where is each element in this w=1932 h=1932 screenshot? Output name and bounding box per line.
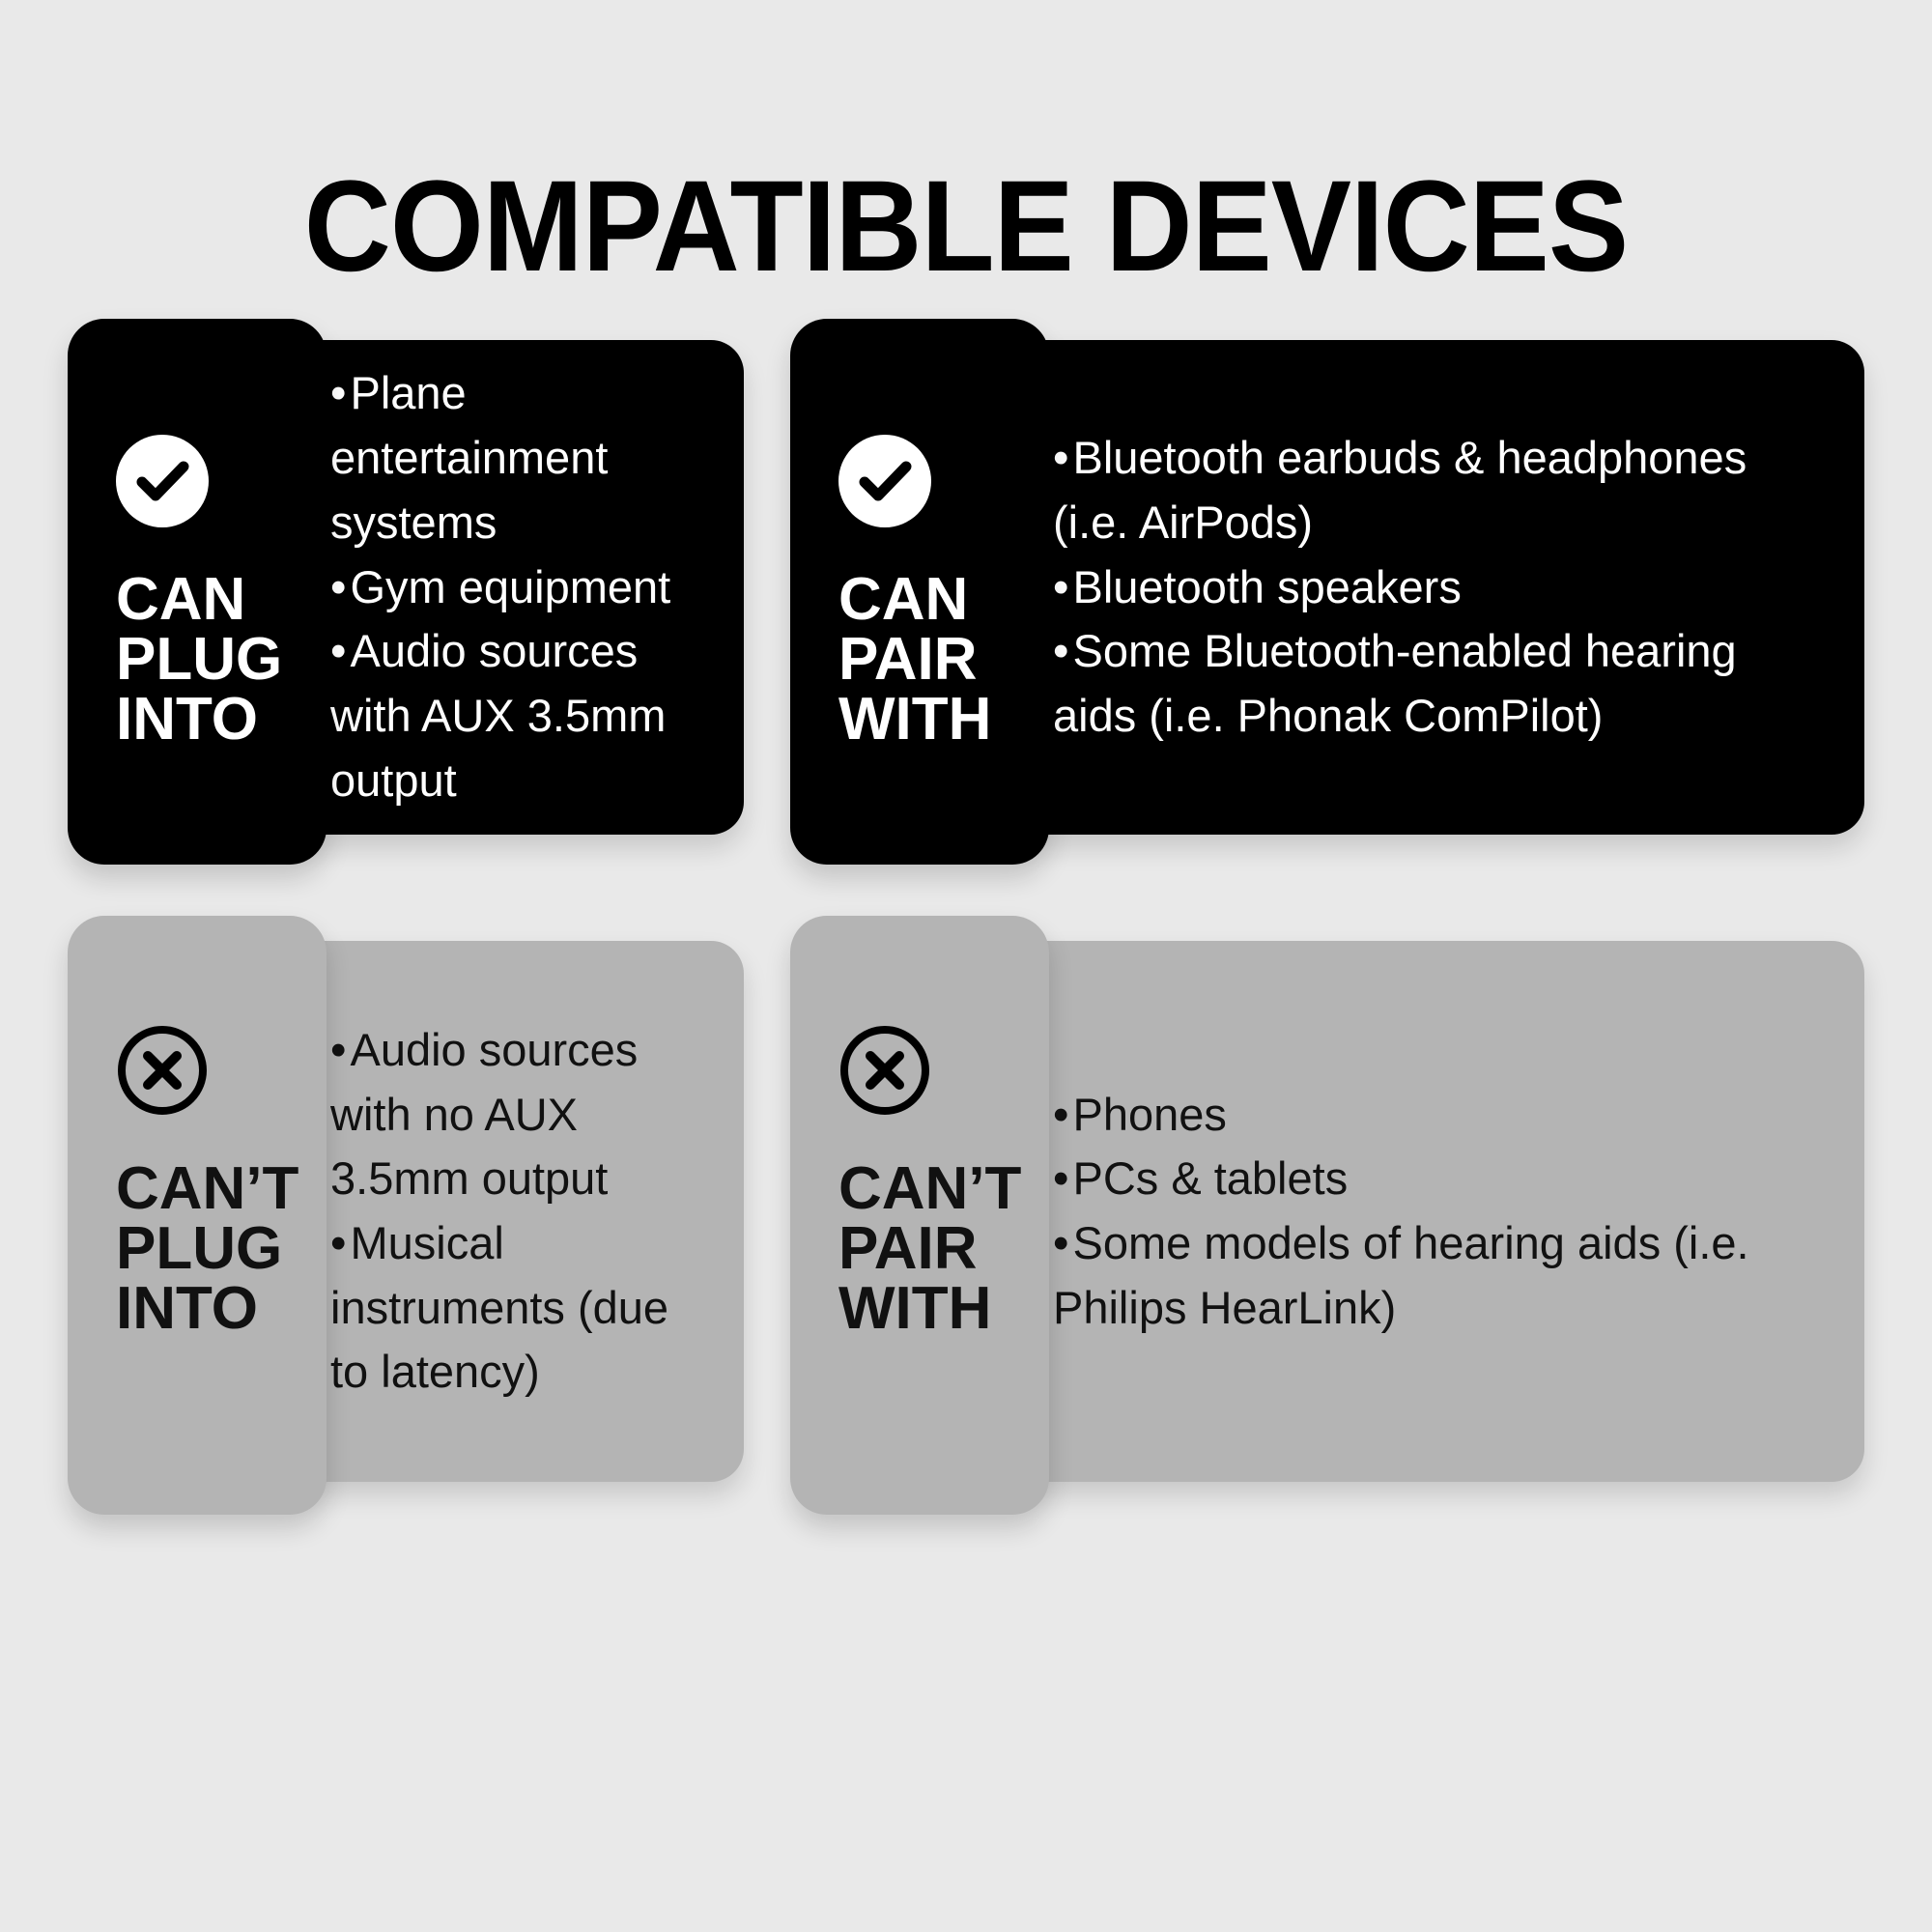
bullet-glyph: • <box>330 1217 346 1268</box>
list-item: •Audio sources with no AUX 3.5mm output <box>330 1018 699 1211</box>
bullet-glyph: • <box>1053 561 1068 612</box>
card-label-can-plug-into: CAN PLUG INTO <box>116 570 282 750</box>
label-panel-cant-plug-into: CAN’T PLUG INTO <box>68 916 327 1515</box>
card-cant-plug-into: •Audio sources with no AUX 3.5mm output … <box>68 916 744 1515</box>
list-item: •Plane entertainment systems <box>330 361 699 554</box>
label-line: CAN <box>116 570 282 630</box>
list-item-text: Some models of hearing aids (i.e. Philip… <box>1053 1217 1749 1333</box>
infographic-root: COMPATIBLE DEVICES •Plane entertainment … <box>0 0 1932 1932</box>
label-line: CAN’T <box>838 1159 1021 1219</box>
list-item: •Musical instruments (due to latency) <box>330 1211 699 1405</box>
card-can-pair-with: •Bluetooth earbuds & headphones (i.e. Ai… <box>790 319 1864 865</box>
list-item: •PCs & tablets <box>1053 1147 1820 1211</box>
list-item-text: Plane entertainment systems <box>330 367 608 547</box>
list-item-text: Bluetooth speakers <box>1072 561 1461 612</box>
bullet-glyph: • <box>1053 432 1068 483</box>
check-circle-filled-icon <box>838 435 931 527</box>
card-label-cant-pair-with: CAN’T PAIR WITH <box>838 1159 1021 1339</box>
label-line: PLUG <box>116 1219 298 1279</box>
list-item-text: Audio sources with AUX 3.5mm output <box>330 625 666 805</box>
list-item: •Bluetooth speakers <box>1053 555 1820 620</box>
bullet-glyph: • <box>330 625 346 676</box>
label-line: PLUG <box>116 630 282 690</box>
bullet-glyph: • <box>1053 1152 1068 1204</box>
card-cant-pair-with: •Phones •PCs & tablets •Some models of h… <box>790 916 1864 1515</box>
label-line: WITH <box>838 690 991 750</box>
check-circle-filled-icon <box>116 435 209 527</box>
bullet-list-cant-plug-into: •Audio sources with no AUX 3.5mm output … <box>274 1018 744 1405</box>
bullet-glyph: • <box>330 1024 346 1075</box>
content-panel-cant-pair-with: •Phones •PCs & tablets •Some models of h… <box>997 941 1864 1482</box>
card-label-cant-plug-into: CAN’T PLUG INTO <box>116 1159 298 1339</box>
label-line: INTO <box>116 690 282 750</box>
bullet-glyph: • <box>330 367 346 418</box>
label-line: WITH <box>838 1279 1021 1339</box>
label-line: PAIR <box>838 630 991 690</box>
list-item-text: Some Bluetooth-enabled hearing aids (i.e… <box>1053 625 1737 741</box>
bullet-glyph: • <box>1053 1217 1068 1268</box>
label-line: CAN’T <box>116 1159 298 1219</box>
x-circle-outline-icon <box>116 1024 209 1117</box>
label-line: PAIR <box>838 1219 1021 1279</box>
list-item: •Phones <box>1053 1083 1820 1148</box>
bullet-glyph: • <box>1053 625 1068 676</box>
list-item-text: Phones <box>1072 1089 1226 1140</box>
list-item: •Audio sources with AUX 3.5mm output <box>330 619 699 812</box>
label-line: CAN <box>838 570 991 630</box>
label-line: INTO <box>116 1279 298 1339</box>
x-circle-outline-icon <box>838 1024 931 1117</box>
content-panel-can-pair-with: •Bluetooth earbuds & headphones (i.e. Ai… <box>997 340 1864 835</box>
bullet-glyph: • <box>330 561 346 612</box>
list-item: •Gym equipment <box>330 555 699 620</box>
list-item-text: PCs & tablets <box>1072 1152 1348 1204</box>
label-panel-cant-pair-with: CAN’T PAIR WITH <box>790 916 1049 1515</box>
list-item: •Some models of hearing aids (i.e. Phili… <box>1053 1211 1820 1340</box>
page-title: COMPATIBLE DEVICES <box>68 162 1864 292</box>
list-item-text: Bluetooth earbuds & headphones (i.e. Air… <box>1053 432 1747 548</box>
content-panel-can-plug-into: •Plane entertainment systems •Gym equipm… <box>274 340 744 835</box>
card-can-plug-into: •Plane entertainment systems •Gym equipm… <box>68 319 744 865</box>
list-item: •Bluetooth earbuds & headphones (i.e. Ai… <box>1053 426 1820 554</box>
bullet-list-can-pair-with: •Bluetooth earbuds & headphones (i.e. Ai… <box>997 426 1864 749</box>
list-item-text: Gym equipment <box>350 561 670 612</box>
list-item-text: Audio sources with no AUX 3.5mm output <box>330 1024 638 1204</box>
card-label-can-pair-with: CAN PAIR WITH <box>838 570 991 750</box>
bullet-list-cant-pair-with: •Phones •PCs & tablets •Some models of h… <box>997 1083 1864 1341</box>
label-panel-can-pair-with: CAN PAIR WITH <box>790 319 1049 865</box>
content-panel-cant-plug-into: •Audio sources with no AUX 3.5mm output … <box>274 941 744 1482</box>
bullet-glyph: • <box>1053 1089 1068 1140</box>
bullet-list-can-plug-into: •Plane entertainment systems •Gym equipm… <box>274 361 744 812</box>
label-panel-can-plug-into: CAN PLUG INTO <box>68 319 327 865</box>
list-item-text: Musical instruments (due to latency) <box>330 1217 668 1397</box>
list-item: •Some Bluetooth-enabled hearing aids (i.… <box>1053 619 1820 748</box>
